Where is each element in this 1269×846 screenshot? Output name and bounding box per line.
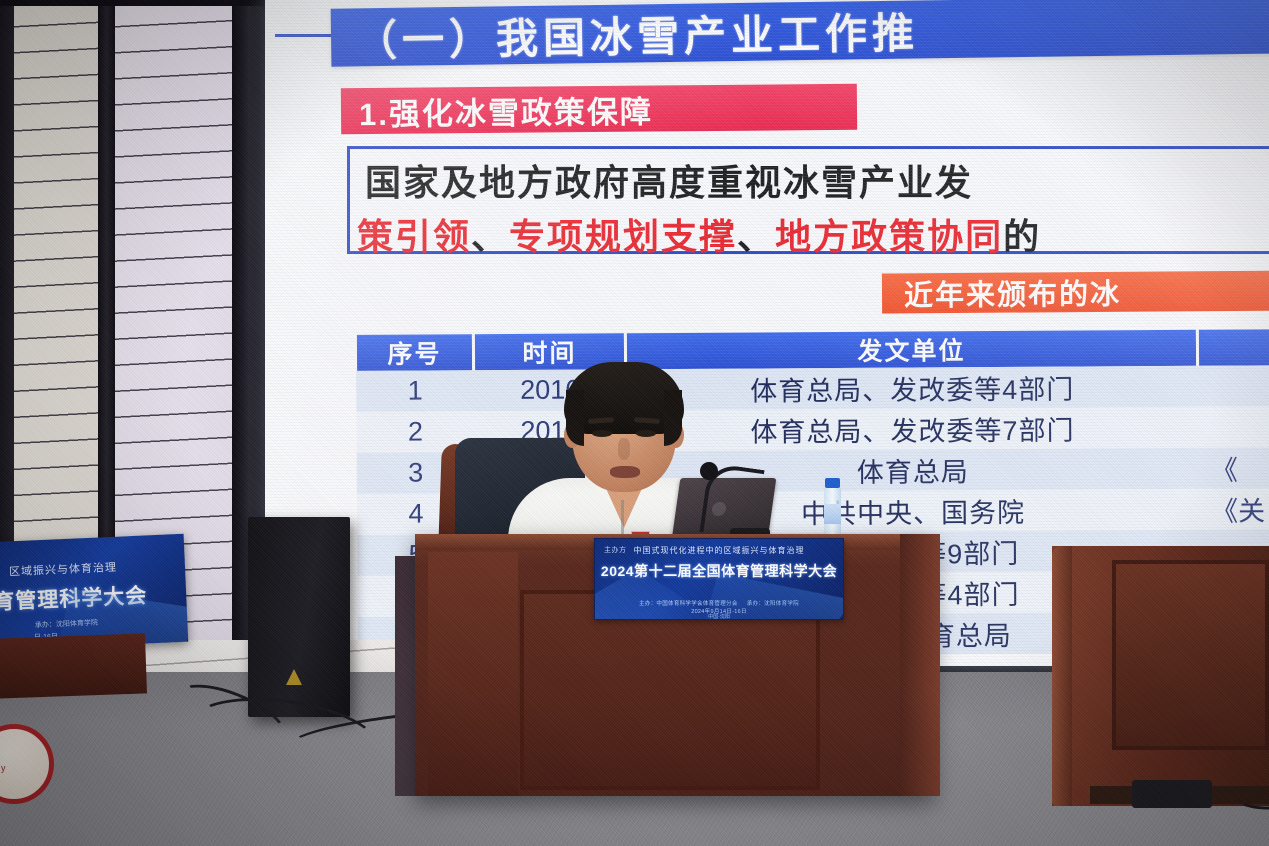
banner-subtitle: 中国式现代化进程中的区域振兴与体育治理 [595,545,843,556]
desk-left-block [428,552,518,796]
cell-doc: 《关 [1199,488,1269,530]
banner-footer-right: 承办：沈阳体育学院 [747,601,799,607]
slide-orange-banner-text: 近年来颁布的冰 [904,271,1121,315]
desk-front-panel [520,590,820,790]
lectern-front-panel [1112,560,1269,750]
conference-room-scene: （一）我国冰雪产业工作推 1.强化冰雪政策保障 国家及地方政府高度重视冰雪产业发… [0,0,1269,846]
slide-title-text: （一）我国冰雪产业工作推 [355,0,920,68]
table-header-no: 序号 [357,334,475,371]
speaker-eye-left [592,430,612,437]
slide-table-header-row: 序号 时间 发文单位 [357,329,1269,371]
slide-title-banner: （一）我国冰雪产业工作推 [331,0,1269,67]
slide-body-line-2: 策引领、专项规划支撑、地方政策协同的 [357,208,1269,260]
floor-loudspeaker [248,517,350,717]
water-bottle-cap [825,478,840,488]
conference-banner-desk: 主办方 中国式现代化进程中的区域振兴与体育治理 2024第十二届全国体育管理科学… [594,538,844,620]
slide-section-heading-banner: 1.强化冰雪政策保障 [341,84,857,135]
water-bottle-label [824,504,841,524]
slide-section-heading-text: 1.强化冰雪政策保障 [359,86,653,134]
slide-body-red-a: 策引领 [357,216,471,257]
left-banner-footer-right: 承办：沈阳体育学院 [0,614,171,633]
slide-body-red-c: 地方政策协同 [775,216,1003,257]
cell-no: 1 [356,370,474,412]
floor-emblem-text: sity [0,763,7,773]
left-banner-stand [0,633,147,698]
speaker-nose [618,438,630,460]
slide-body-red-b: 专项规划支撑 [509,216,737,257]
speaker-eye-right [636,430,656,437]
banner-title: 2024第十二届全国体育管理科学大会 [595,561,843,581]
desk-right-side [900,534,940,796]
left-banner-title: 体育管理科学大会 [0,578,185,619]
slide-body-sep-2: 、 [737,216,775,257]
microphone-capsule-icon [700,462,718,480]
lectern-edge [1052,546,1072,806]
slide-body-tail: 的 [1003,216,1041,257]
ceiling-shadow-band [0,0,266,6]
table-header-doc [1199,329,1269,366]
speaker-mouth [610,466,640,478]
loudspeaker-logo-icon [286,669,302,685]
table-row: 1 2016 体育总局、发改委等4部门 [356,365,1269,412]
slide-body-line-1: 国家及地方政府高度重视冰雪产业发 [365,154,1269,206]
floor-power-brick [1132,780,1212,808]
banner-footer-place: 中国·沈阳 [595,613,843,620]
cell-doc [1198,406,1269,448]
slide-body-sep-1: 、 [471,216,509,257]
cell-doc [1198,365,1269,407]
banner-footer-organizers: 主办：中国体育科学学会体育管理分会 承办：沈阳体育学院 [595,599,843,607]
cell-doc: 《 [1199,447,1269,489]
conference-banner-left: 区域振兴与体育治理 体育管理科学大会 承办：沈阳体育学院 日-16日 [0,534,188,650]
slide-orange-banner: 近年来颁布的冰 [882,270,1269,313]
